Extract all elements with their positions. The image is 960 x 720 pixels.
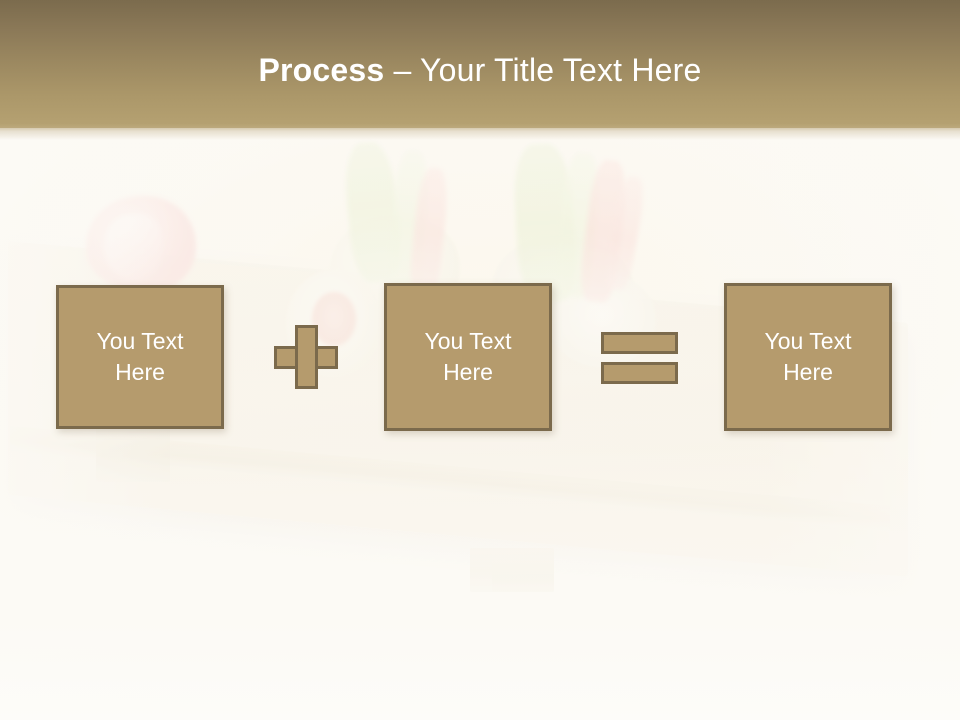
process-box-1-line2: Here xyxy=(115,359,165,385)
equals-icon xyxy=(601,332,678,384)
process-box-1-label: You TextHere xyxy=(89,326,192,388)
process-box-3-label: You TextHere xyxy=(757,326,860,388)
process-box-2-label: You TextHere xyxy=(417,326,520,388)
header-fade-edge xyxy=(0,124,960,140)
process-box-2-line2: Here xyxy=(443,359,493,385)
page-title: Process – Your Title Text Here xyxy=(0,50,960,90)
equals-icon-top-bar xyxy=(601,332,678,354)
plus-icon-center-fill xyxy=(298,349,315,366)
slide-canvas: Process – Your Title Text Here You TextH… xyxy=(0,0,960,720)
process-box-3[interactable]: You TextHere xyxy=(724,283,892,431)
process-box-1[interactable]: You TextHere xyxy=(56,285,224,429)
plus-icon xyxy=(274,325,338,389)
process-box-1-line1: You Text xyxy=(97,328,184,354)
page-title-rest: – Your Title Text Here xyxy=(384,52,701,88)
process-box-3-line2: Here xyxy=(783,359,833,385)
equals-icon-bottom-bar xyxy=(601,362,678,384)
process-box-3-line1: You Text xyxy=(765,328,852,354)
process-box-2[interactable]: You TextHere xyxy=(384,283,552,431)
page-title-emphasis: Process xyxy=(258,52,384,88)
process-box-2-line1: You Text xyxy=(425,328,512,354)
